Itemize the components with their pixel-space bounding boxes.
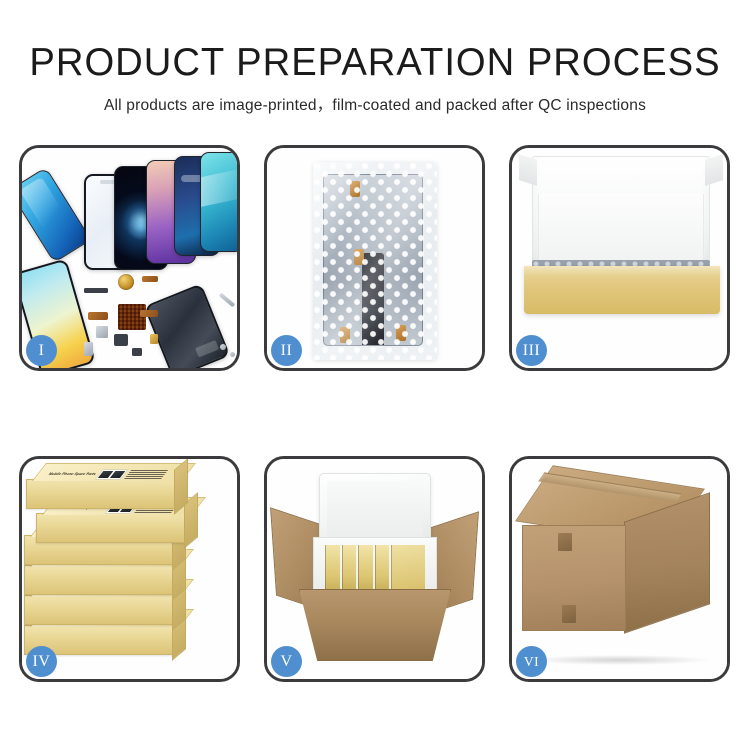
plastic-sheen-overlay — [313, 162, 437, 360]
vibrator-part — [96, 326, 108, 338]
yellow-box-item — [342, 545, 357, 589]
flex-cable-part — [140, 310, 158, 317]
box-label-spec-lines — [124, 470, 174, 479]
stacked-box-labeled: Mobile Phone Spare Parts — [26, 479, 176, 509]
step-badge-1: I — [26, 335, 57, 366]
step-badge-4: IV — [26, 646, 57, 677]
yellow-box-item — [358, 545, 373, 589]
yellow-box-item — [375, 545, 390, 589]
header: PRODUCT PREPARATION PROCESS All products… — [0, 0, 750, 115]
process-step-card-6: VI — [509, 456, 730, 682]
kraft-box-tray — [524, 266, 720, 314]
box-label: Mobile Phone Spare Parts — [44, 467, 177, 481]
box-label-text: Mobile Phone Spare Parts — [47, 472, 97, 476]
phone-back-housing-image — [144, 283, 231, 368]
step-2-illustration — [267, 148, 482, 368]
step-badge-5: V — [271, 646, 302, 677]
yellow-box-stack-item — [391, 545, 425, 589]
process-step-card-5: V — [264, 456, 485, 682]
carton-shadow — [528, 655, 710, 665]
camera-module-icon — [114, 334, 128, 346]
process-step-card-1: I — [19, 145, 240, 371]
sim-tray-part — [150, 334, 158, 344]
antenna-strip-part — [84, 288, 108, 293]
sealing-tape-icon — [562, 605, 576, 623]
process-step-card-2: II — [264, 145, 485, 371]
connector-part — [84, 342, 93, 356]
screw-part — [132, 348, 142, 356]
stacked-box-labeled: Mobile Phone Spare Parts — [36, 513, 186, 543]
box-inner-wall — [538, 194, 704, 264]
yellow-box-item — [325, 545, 340, 589]
speaker-module-icon — [118, 274, 134, 290]
process-step-card-3: III — [509, 145, 730, 371]
step-badge-3: III — [516, 335, 547, 366]
step-badge-6: VI — [516, 646, 547, 677]
step-badge-2: II — [271, 335, 302, 366]
stacked-box — [24, 565, 174, 595]
screw-part — [220, 344, 226, 350]
bubble-wrap-bag-image — [313, 162, 437, 360]
flex-cable-part — [88, 312, 108, 320]
step-1-illustration — [22, 148, 237, 368]
carton-contents — [325, 545, 425, 589]
tweezers-tool-icon — [219, 293, 235, 308]
box-stack: Mobile Phone Spare Parts Mobile Phone Sp… — [24, 475, 237, 671]
screw-part — [230, 352, 235, 357]
step-4-illustration: Mobile Phone Spare Parts Mobile Phone Sp… — [22, 459, 237, 679]
process-step-card-4: Mobile Phone Spare Parts Mobile Phone Sp… — [19, 456, 240, 682]
kraft-carton-body — [299, 589, 451, 661]
step-6-illustration — [512, 459, 727, 679]
copper-contact-grid-icon — [118, 304, 146, 330]
product-preparation-infographic: PRODUCT PREPARATION PROCESS All products… — [0, 0, 750, 750]
page-subtitle: All products are image-printed，film-coat… — [0, 93, 750, 115]
step-5-illustration — [267, 459, 482, 679]
flex-cable-part — [142, 276, 158, 282]
stacked-box — [24, 595, 174, 625]
sealing-tape-icon — [558, 533, 572, 551]
blue-back-glass-panel-image — [22, 167, 91, 263]
page-title: PRODUCT PREPARATION PROCESS — [8, 41, 743, 85]
styrofoam-lid — [319, 473, 431, 545]
teal-phone-screen-image — [200, 152, 237, 252]
process-steps-grid: I II — [19, 145, 731, 681]
step-3-illustration — [512, 148, 727, 368]
